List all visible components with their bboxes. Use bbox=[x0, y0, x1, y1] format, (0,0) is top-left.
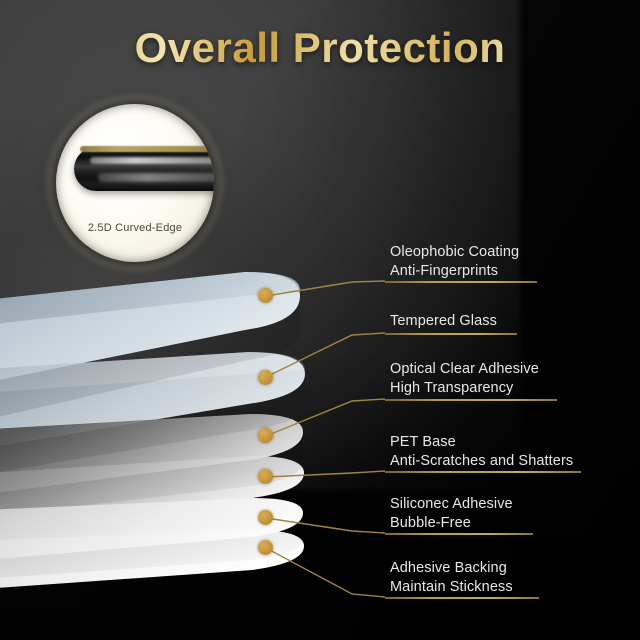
callout-line-1: Adhesive Backing bbox=[390, 560, 507, 576]
callout-line-1: PET Base bbox=[390, 434, 456, 450]
callout-dot-pet-base[interactable] bbox=[258, 469, 273, 484]
callout-line-1: Optical Clear Adhesive bbox=[390, 361, 539, 377]
callout-underline-pet-base bbox=[385, 471, 581, 473]
callout-line-2: High Transparency bbox=[390, 379, 539, 398]
callout-underline-tempered-glass bbox=[385, 333, 517, 335]
callout-label-siliconec-adhesive: Siliconec Adhesive Bubble-Free bbox=[390, 495, 513, 533]
callout-line-1: Siliconec Adhesive bbox=[390, 496, 513, 512]
callout-dot-optical-clear-adhesive[interactable] bbox=[258, 428, 273, 443]
callout-line-1: Tempered Glass bbox=[390, 313, 497, 329]
callout-dot-tempered-glass[interactable] bbox=[258, 370, 273, 385]
callout-dot-adhesive-backing[interactable] bbox=[258, 540, 273, 555]
callout-label-adhesive-backing: Adhesive Backing Maintain Stickness bbox=[390, 559, 513, 597]
callout-dot-siliconec-adhesive[interactable] bbox=[258, 510, 273, 525]
callout-line-2: Maintain Stickness bbox=[390, 578, 513, 597]
callout-label-tempered-glass: Tempered Glass bbox=[390, 312, 497, 331]
callout-label-pet-base: PET Base Anti-Scratches and Shatters bbox=[390, 433, 573, 471]
callout-line-1: Oleophobic Coating bbox=[390, 244, 519, 260]
product-infographic: Overall Protection Overall Protection 2.… bbox=[0, 0, 640, 640]
callout-line-2: Anti-Fingerprints bbox=[390, 262, 519, 281]
callout-line-2: Anti-Scratches and Shatters bbox=[390, 452, 573, 471]
callout-underline-oleophobic-coating bbox=[385, 281, 537, 283]
callout-underline-optical-clear-adhesive bbox=[385, 399, 557, 401]
callout-label-optical-clear-adhesive: Optical Clear Adhesive High Transparency bbox=[390, 360, 539, 398]
callout-label-oleophobic-coating: Oleophobic Coating Anti-Fingerprints bbox=[390, 243, 519, 281]
callout-underline-siliconec-adhesive bbox=[385, 533, 533, 535]
exploded-layer-stack bbox=[0, 0, 640, 640]
callout-dot-oleophobic-coating[interactable] bbox=[258, 288, 273, 303]
callout-underline-adhesive-backing bbox=[385, 597, 539, 599]
callout-line-2: Bubble-Free bbox=[390, 514, 513, 533]
